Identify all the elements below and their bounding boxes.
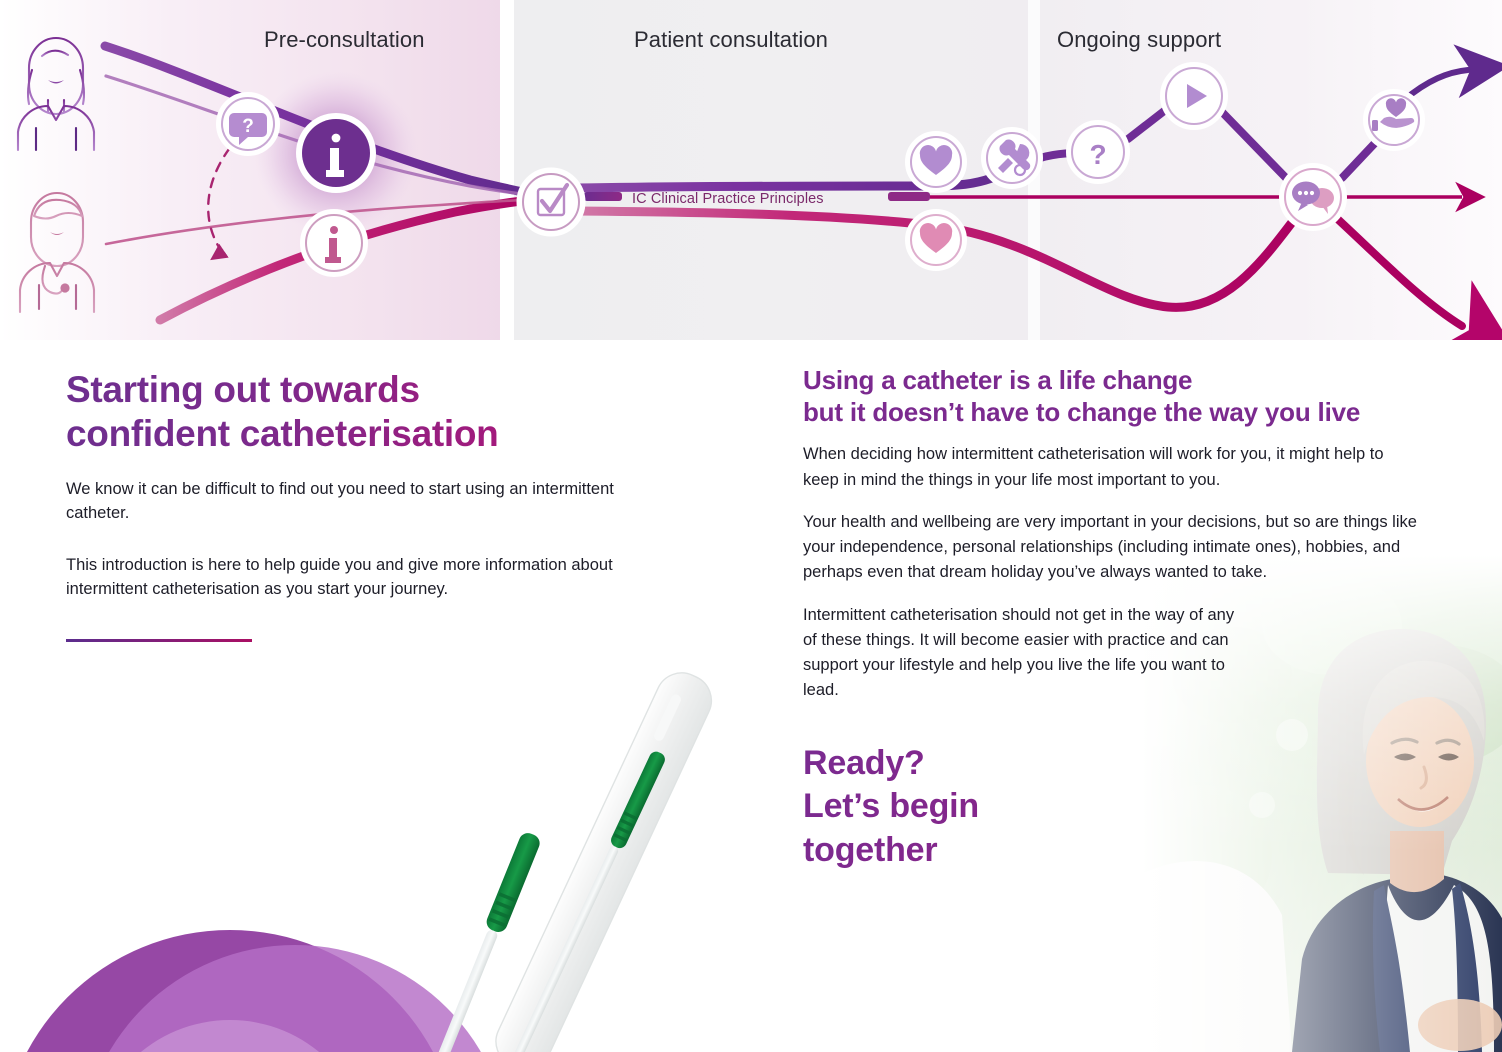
path-purple-to-hand [1342, 143, 1375, 178]
play-icon [1163, 65, 1225, 127]
hand-heart-icon [1366, 92, 1422, 148]
chat-bubbles-icon [1282, 166, 1344, 228]
main-content: Starting out towards confident catheteri… [0, 340, 1502, 1052]
right-paragraph-1: When deciding how intermittent catheteri… [803, 442, 1423, 492]
path-patient-purple-mid [574, 158, 1040, 188]
principles-dash-right [888, 192, 930, 201]
right-heading-line1: Using a catheter is a life change [803, 365, 1192, 395]
svg-text:?: ? [1089, 139, 1106, 170]
right-heading-line2: but it doesn’t have to change the way yo… [803, 397, 1360, 427]
clinician-avatar-icon [20, 193, 94, 312]
stage-label-patient-consultation: Patient consultation [634, 27, 828, 53]
svg-text:?: ? [242, 116, 254, 137]
section-divider-rule [66, 639, 252, 642]
left-text-column: Starting out towards confident catheteri… [66, 368, 646, 642]
right-text-column: Using a catheter is a life change but it… [803, 365, 1439, 873]
info-outline-icon [303, 212, 365, 274]
heart-pink-icon [908, 212, 964, 268]
checklist-icon [520, 171, 582, 233]
info-filled-icon [296, 113, 376, 193]
cta-line2: Let’s begin [803, 787, 979, 825]
principles-dash-left [584, 192, 622, 201]
call-to-action-heading: Ready? Let’s begin together [803, 742, 1439, 874]
cta-line1: Ready? [803, 744, 925, 782]
patient-journey-diagram: ? [0, 0, 1502, 340]
ic-clinical-practice-principles-label: IC Clinical Practice Principles [632, 191, 824, 207]
left-paragraph-2: This introduction is here to help guide … [66, 554, 646, 602]
left-paragraph-1: We know it can be difficult to find out … [66, 478, 646, 526]
path-purple-to-play [1128, 108, 1168, 139]
question-bubble-icon: ? [219, 95, 277, 153]
page-title: Starting out towards confident catheteri… [66, 368, 646, 455]
path-magenta-exit-lower [1330, 212, 1462, 326]
page-title-line2: confident catheterisation [66, 413, 498, 454]
cta-line3: together [803, 831, 937, 869]
page-title-line1: Starting out towards [66, 369, 420, 410]
path-purple-to-chat [1222, 112, 1288, 180]
page-root: ? [0, 0, 1502, 1052]
heart-icon [908, 134, 964, 190]
path-purple-exit-arrow [1404, 70, 1468, 100]
right-paragraph-2: Your health and wellbeing are very impor… [803, 510, 1428, 586]
patient-avatar-icon [18, 38, 94, 150]
stage-label-pre-consultation: Pre-consultation [264, 27, 425, 53]
right-paragraph-3: Intermittent catheterisation should not … [803, 603, 1243, 704]
right-column-heading: Using a catheter is a life change but it… [803, 365, 1439, 428]
tools-icon [984, 130, 1040, 186]
dashed-link-arrow [208, 140, 236, 252]
question-mark-icon: ? [1069, 123, 1127, 181]
stage-label-ongoing-support: Ongoing support [1057, 27, 1221, 53]
